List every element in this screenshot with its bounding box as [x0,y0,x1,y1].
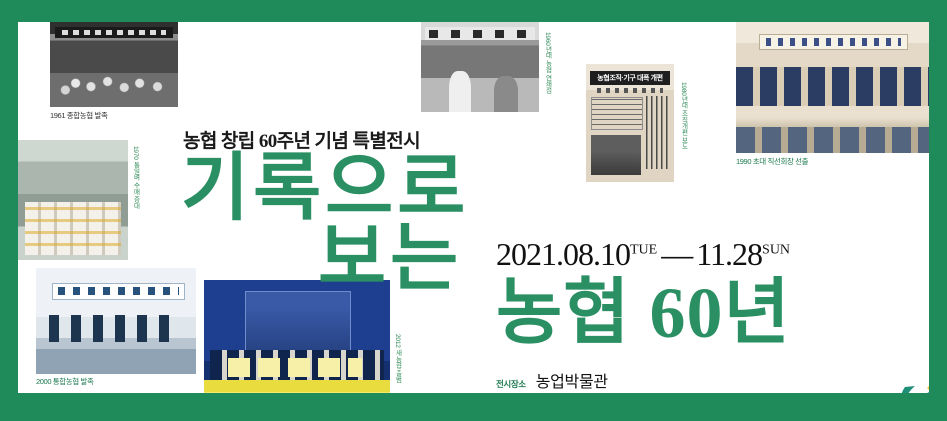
exhibition-poster: 1961 종합농협 발족 1960년대 농협 연쇄점 1990 초대 직선회장 … [0,0,947,421]
photo-rice-caption: 1970 통일벼 수매 증대 [130,146,140,254]
photo-rice-sacks [25,202,122,255]
photo-newspaper: 농협조직·기구 대폭 개편 [586,64,674,182]
venue-value: 농업박물관 [536,368,681,392]
date-end-weekday: SUN [762,242,790,257]
headline-line-1: 기록으로 [181,152,469,226]
photo-election-crowd [736,67,929,112]
newspaper-headline-text: 농협조직·기구 대폭 개편 [590,71,669,85]
newspaper-subhead [597,88,664,94]
photo-election-1990 [736,22,929,153]
newspaper-photo [591,135,640,175]
photo-1961-caption: 1961 종합농협 발족 [50,110,107,121]
photo-assembly-stage [36,338,196,374]
photo-cooperative-store [421,22,539,112]
poster-canvas: 1961 종합농협 발족 1960년대 농협 연쇄점 1990 초대 직선회장 … [18,22,929,393]
poster-title: 농협 60년 [496,277,791,349]
date-separator: — [657,236,696,272]
anniversary-logo: 농협창립60주년 [898,380,929,393]
date-end: 11.28 [696,236,762,272]
exhibition-info: 전시장소 농업박물관 VR 관람 www.agrimuseum.or.kr [496,368,680,393]
anniversary-logo-icon [898,380,929,393]
photo-store-figure-b [494,76,518,112]
newspaper-body-box [591,97,642,130]
photo-launch-brand: NH [204,392,390,393]
photo-election-caption: 1990 초대 직선회장 선출 [736,156,808,167]
photo-store-signboard [425,27,536,40]
photo-launch-screen [245,291,351,358]
photo-store-figure-a [449,71,470,112]
date-start: 2021.08.10 [496,236,630,272]
photo-assembly-people [49,315,171,343]
photo-store-caption: 1960년대 농협 연쇄점 [542,32,552,108]
headline-line-2: 보는 [318,222,462,296]
newspaper-headline-bar: 농협조직·기구 대폭 개편 [590,71,669,85]
venue-label: 전시장소 [496,378,526,390]
photo-election-front-row [736,127,929,153]
photo-launch-placards [228,358,362,377]
date-start-weekday: TUE [630,242,657,257]
photo-assembly-2000 [36,268,196,374]
photo-assembly-banner [52,283,185,300]
photo-1961-banner [55,27,173,38]
exhibition-dates: 2021.08.10TUE—11.28SUN [496,236,790,273]
photo-rice-stock [18,140,128,260]
photo-launch-caption: 2012 새농협 출범 [392,334,402,393]
photo-1961-founding [50,22,178,107]
photo-newspaper-caption: 1980년대 조직개편 보도 [678,82,688,174]
newspaper-column-copy [646,96,671,169]
photo-election-banner [759,34,908,50]
photo-assembly-caption: 2000 통합농협 발족 [36,376,93,387]
